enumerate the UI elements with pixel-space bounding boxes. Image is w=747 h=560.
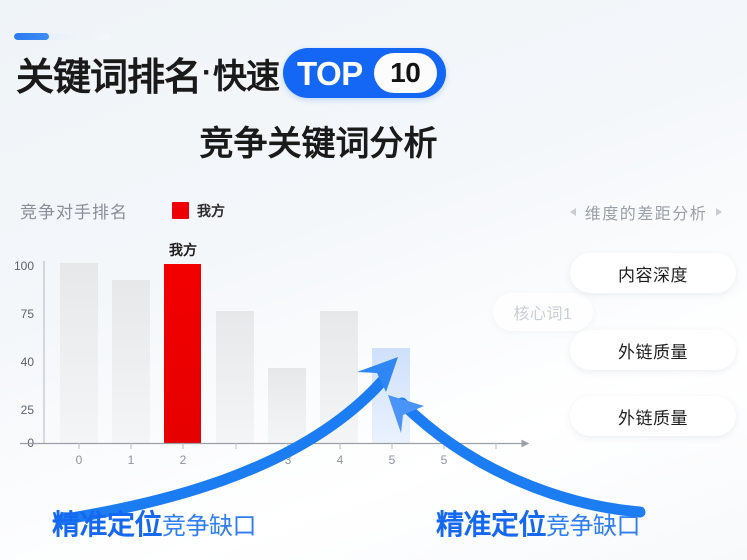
badge-label: TOP <box>297 57 363 90</box>
legend-color-swatch <box>172 202 189 219</box>
dimension-pill[interactable]: 外链质量 <box>570 396 736 436</box>
bar-series <box>60 263 410 443</box>
x-axis: 0 1 2 3 4 5 5 <box>20 443 528 467</box>
dimension-panel-header: 维度的差距分析 <box>548 200 744 224</box>
y-tick-label: 75 <box>21 307 35 321</box>
x-tick-label: 1 <box>128 453 135 467</box>
caption-strong-text: 精准定位 <box>436 503 546 543</box>
x-tick-label: 3 <box>285 453 292 467</box>
progress-bar-fill <box>14 33 49 40</box>
caption-strong-text: 精准定位 <box>52 503 162 543</box>
caption-weak-text: 竞争缺口 <box>162 506 256 541</box>
badge-number-circle: 10 <box>374 53 437 93</box>
header-title-main: 关键词排名 <box>16 46 201 101</box>
chart-legend: 竞争对手排名 我方 <box>20 198 225 223</box>
bar-2-mine <box>164 264 201 443</box>
caption-weak-text: 竞争缺口 <box>546 506 640 541</box>
page-subtitle: 竞争关键词分析 <box>0 116 747 165</box>
dimension-pill-label: 外链质量 <box>618 338 688 363</box>
bar-0 <box>60 263 98 443</box>
bar-chart-svg: 100 75 40 25 0 我方 <box>0 240 560 490</box>
triangle-left-icon <box>570 208 576 216</box>
bar-chart: 100 75 40 25 0 我方 <box>0 240 560 490</box>
x-tick-label: 5 <box>389 453 396 467</box>
y-tick-label: 40 <box>21 355 35 369</box>
bar-5 <box>320 311 358 443</box>
legend-item-label: 我方 <box>197 201 225 221</box>
triangle-right-icon <box>716 208 722 216</box>
x-tick-label: 4 <box>337 453 344 467</box>
legend-title: 竞争对手排名 <box>20 198 128 223</box>
bar-4 <box>268 368 306 443</box>
bar-6-gap <box>372 348 410 443</box>
page-subtitle-text: 竞争关键词分析 <box>200 116 438 165</box>
x-tick-label: 2 <box>180 453 187 467</box>
y-tick-label: 25 <box>21 403 35 417</box>
top-rank-badge: TOP 10 <box>283 48 446 98</box>
header-title-separator: · <box>202 56 212 90</box>
header-title: 关键词排名 · 快速 <box>16 45 279 101</box>
caption-right: 精准定位 竞争缺口 <box>436 503 640 543</box>
legend-item-mine: 我方 <box>172 201 225 221</box>
badge-number: 10 <box>390 57 420 89</box>
dimension-pill[interactable]: 内容深度 <box>570 253 736 293</box>
bar-annotation-label: 我方 <box>169 242 197 258</box>
x-tick-label: 0 <box>76 453 83 467</box>
dimension-pill[interactable]: 外链质量 <box>570 330 736 370</box>
x-tick-label: 5 <box>441 453 448 467</box>
caption-left: 精准定位 竞争缺口 <box>52 503 256 543</box>
bar-3 <box>216 311 254 443</box>
y-axis: 100 75 40 25 0 <box>14 259 44 450</box>
dimension-pill-label: 外链质量 <box>618 404 688 429</box>
y-tick-label: 100 <box>14 259 34 273</box>
dimension-panel-title: 维度的差距分析 <box>585 200 708 224</box>
poster-root: 关键词排名 · 快速 TOP 10 竞争关键词分析 竞争对手排名 我方 维度的差… <box>0 0 747 560</box>
bar-1 <box>112 280 150 443</box>
progress-bar <box>14 33 110 40</box>
dimension-pill-label: 内容深度 <box>618 261 688 286</box>
header-title-sub: 快速 <box>213 49 279 98</box>
